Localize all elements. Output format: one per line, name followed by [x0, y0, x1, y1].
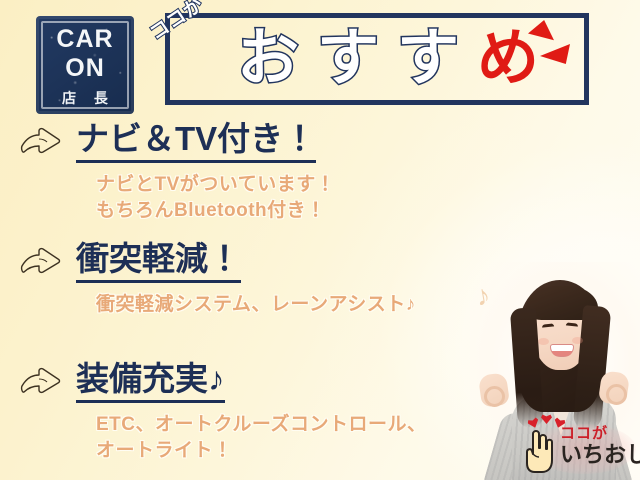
badge-text-group: ココが いちおし	[560, 426, 640, 466]
sparkle-marks-icon	[518, 20, 576, 66]
feature-3-heading: 装備充実♪	[18, 360, 630, 403]
pointing-hand-icon	[18, 366, 64, 400]
cheek-right	[572, 337, 583, 344]
sparkle-triangle-2	[540, 44, 570, 64]
feature-1-subtext: ナビとTVがついています！ もちろんBluetooth付き！	[96, 172, 630, 223]
sparkle-triangle-1	[528, 20, 554, 46]
pointing-up-hand-icon	[524, 426, 558, 474]
badge-line-kokoga: ココが	[560, 426, 640, 441]
feature-2-title: 衝突軽減！	[76, 240, 241, 283]
feature-2-subtext: 衝突軽減システム、レーンアシスト♪	[96, 292, 630, 318]
feature-1-heading: ナビ＆TV付き！	[18, 120, 630, 163]
feature-1-subline-1: ナビとTVがついています！	[96, 172, 630, 198]
heart-icon	[541, 414, 552, 424]
feature-block-1: ナビ＆TV付き！ ナビとTVがついています！ もちろんBluetooth付き！	[18, 120, 630, 223]
badge-line-ichioshi: いちおし	[560, 444, 640, 466]
pointing-hand-icon	[18, 246, 64, 280]
feature-2-subline-1: 衝突軽減システム、レーンアシスト♪	[96, 292, 630, 318]
car-on-logo: CAR ON 店 長	[36, 16, 134, 114]
ichioshi-badge: ココが いちおし	[520, 414, 638, 476]
logo-line-car: CAR	[56, 27, 113, 52]
feature-1-subline-2: もちろんBluetooth付き！	[96, 198, 630, 224]
feature-block-2: 衝突軽減！ 衝突軽減システム、レーンアシスト♪	[18, 240, 630, 318]
pointing-hand-icon	[18, 126, 64, 160]
cheek-left	[538, 338, 549, 345]
advertisement-banner: ♪ CAR ON 店 長 お す す め ココが	[0, 0, 640, 480]
feature-1-title: ナビ＆TV付き！	[76, 120, 316, 163]
feature-3-title: 装備充実♪	[76, 360, 225, 403]
logo-line-on: ON	[65, 56, 105, 81]
feature-2-heading: 衝突軽減！	[18, 240, 630, 283]
logo-line-tencho: 店 長	[55, 88, 115, 108]
